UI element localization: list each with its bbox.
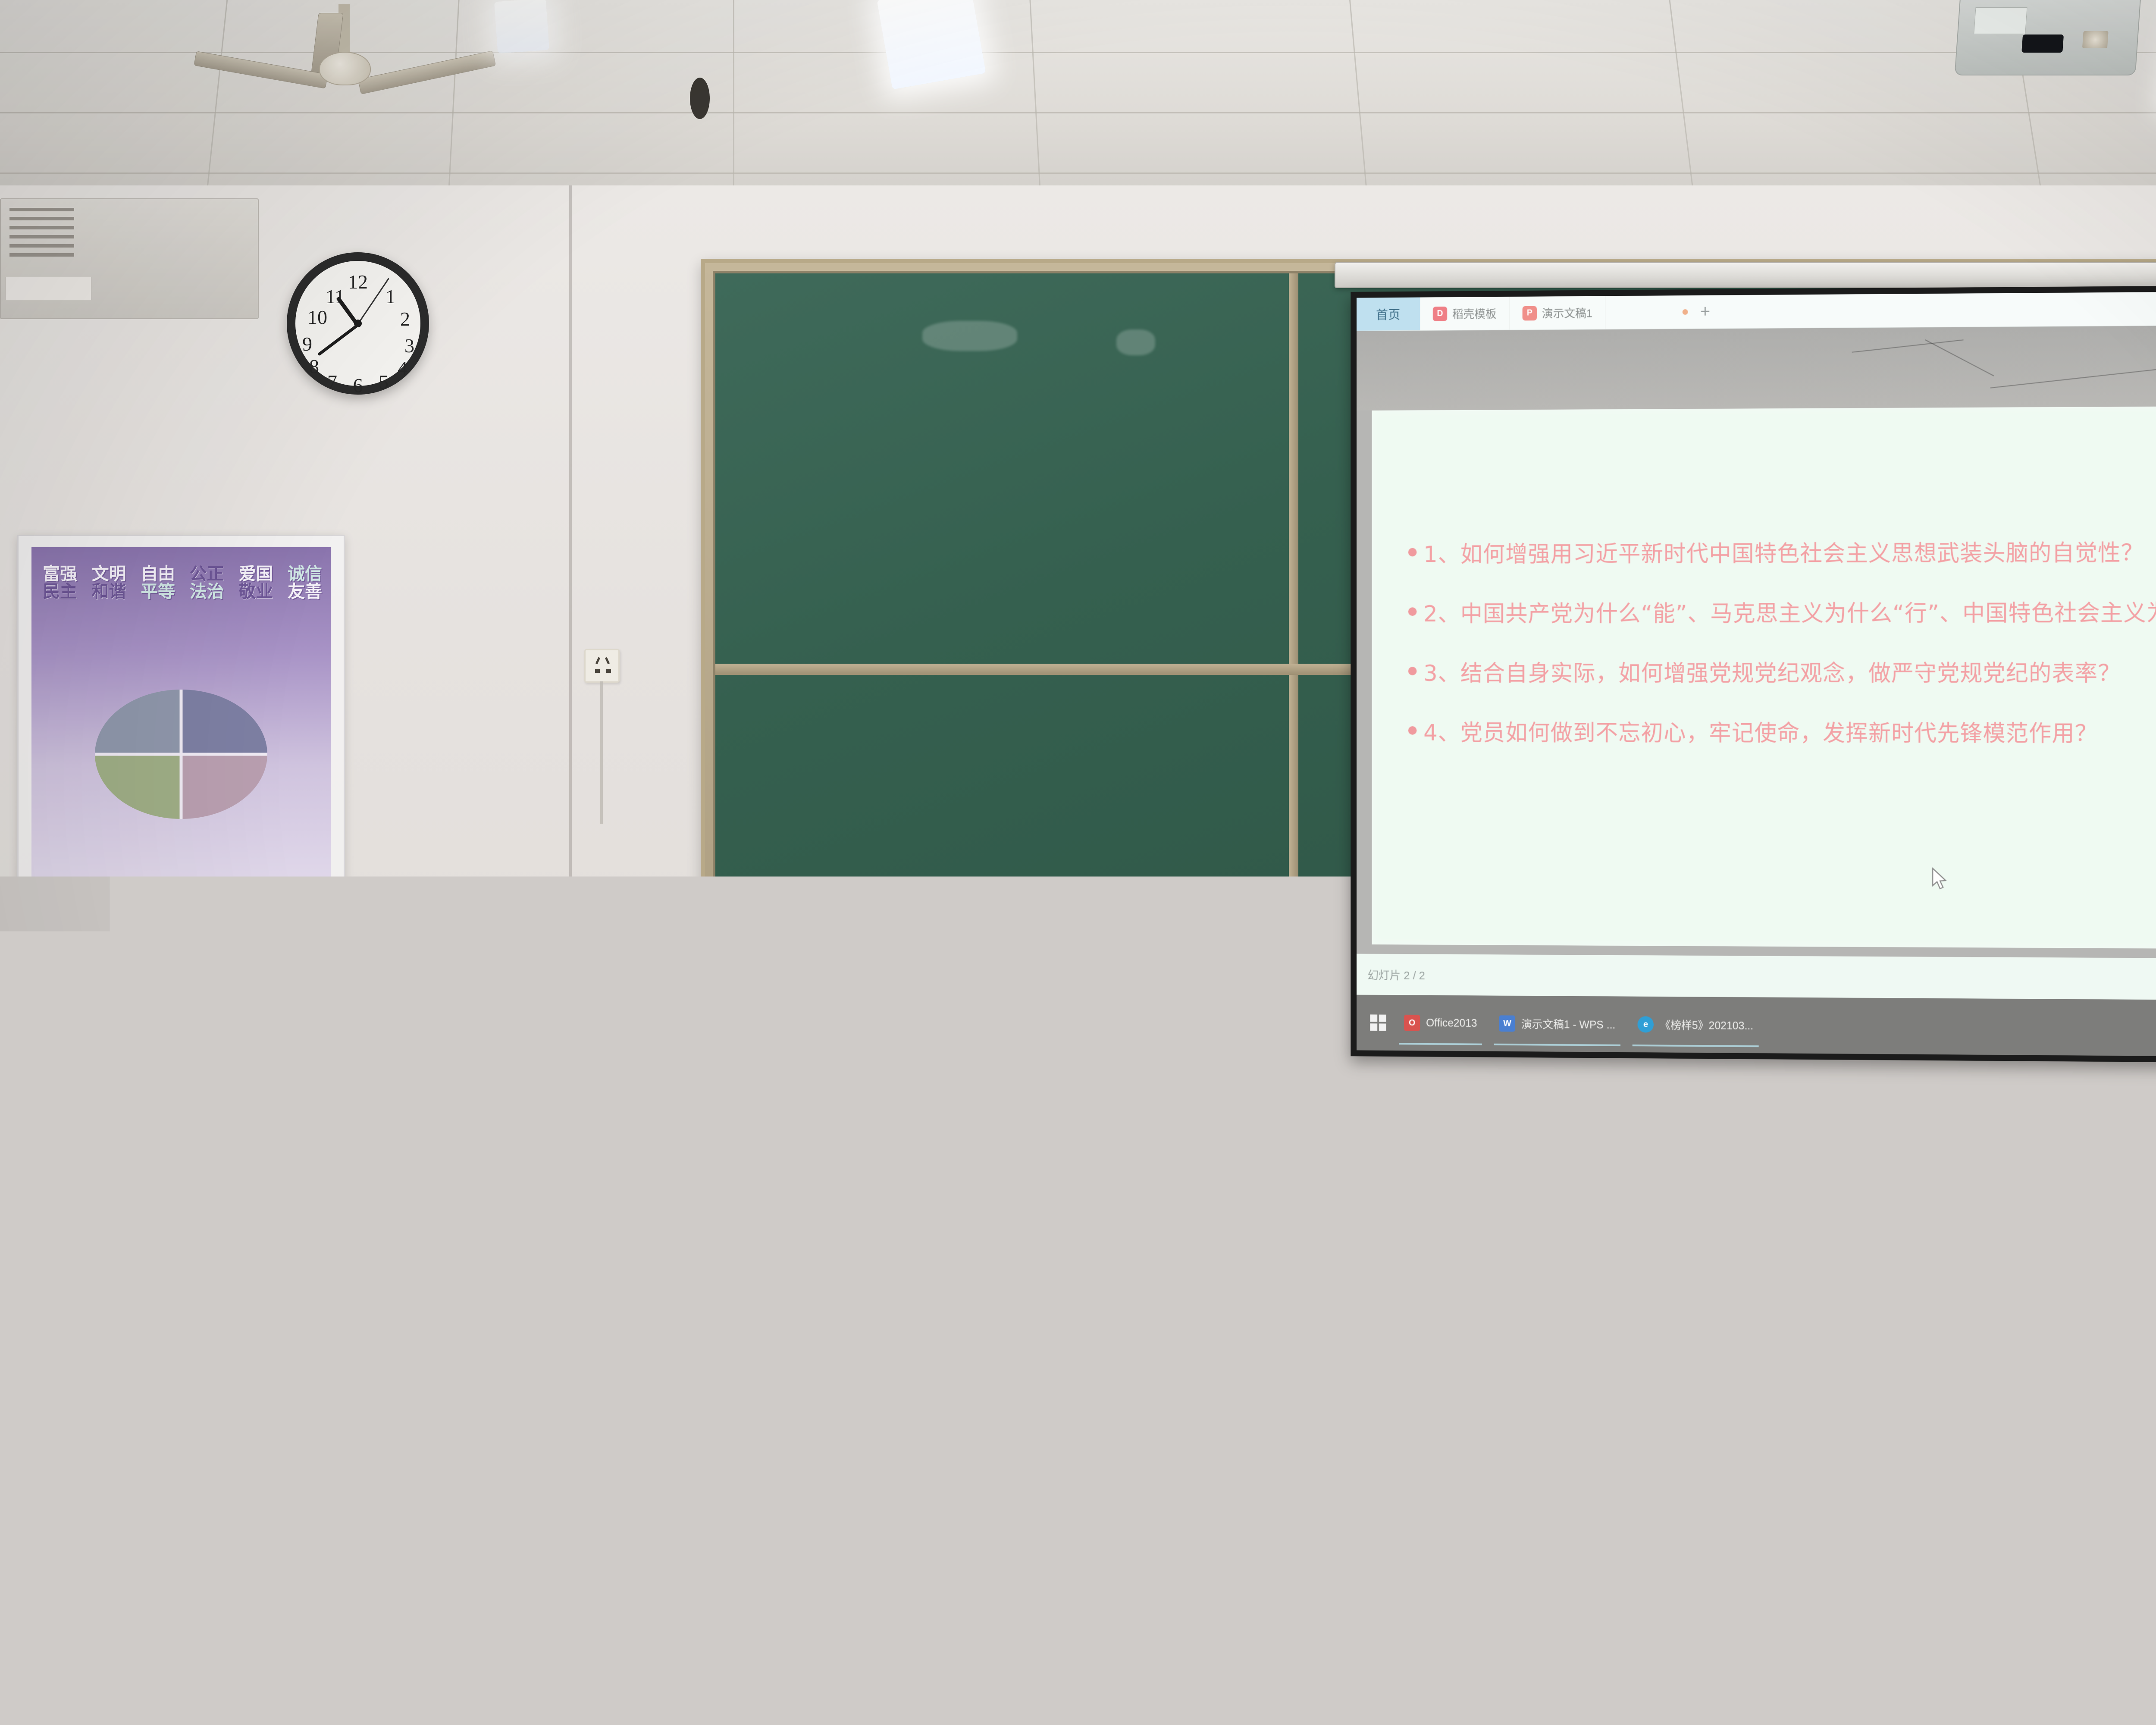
wall-cable bbox=[600, 681, 603, 824]
projection-screen: 首页 D 稻壳模板 P 演示文稿1 + 1 访客登录 bbox=[1351, 284, 2156, 1064]
projector-screen-housing bbox=[1335, 262, 2156, 288]
taskbar-item-label: Office2013 bbox=[1426, 1017, 1477, 1030]
edge-icon: e bbox=[1638, 1016, 1654, 1032]
clock-numeral: 1 bbox=[385, 285, 395, 308]
chair[interactable] bbox=[0, 1535, 259, 1678]
taskbar-item-office2013[interactable]: O Office2013 bbox=[1393, 995, 1488, 1051]
taskbar-item-edge-video[interactable]: e 《榜样5》202103... bbox=[1626, 997, 1764, 1054]
wps-toolbar-area bbox=[1357, 324, 2156, 411]
student bbox=[397, 1203, 578, 1436]
windows-taskbar: O Office2013 W 演示文稿1 - WPS ... e 《榜样5》20… bbox=[1357, 995, 2156, 1058]
value-word-bottom: 民主 bbox=[43, 583, 77, 600]
clock-numeral: 12 bbox=[348, 270, 368, 293]
student-head bbox=[1350, 1246, 1427, 1324]
desk-surface bbox=[2104, 1440, 2156, 1465]
chair[interactable] bbox=[811, 1410, 1052, 1540]
new-tab-button[interactable]: + bbox=[1688, 295, 1722, 328]
bullet-dot-icon bbox=[1408, 607, 1417, 616]
university-logo-icon bbox=[112, 881, 140, 903]
value-word-top: 爱国 bbox=[238, 565, 273, 582]
campus-photo-collage bbox=[95, 690, 267, 819]
wps-status-bar: 幻灯片 2 / 2 ‹ ☰ › bbox=[1357, 954, 2156, 1001]
tab-presentation1[interactable]: P 演示文稿1 bbox=[1510, 296, 1606, 329]
wps-icon: W bbox=[1499, 1015, 1515, 1032]
ceiling-fan bbox=[185, 4, 513, 103]
student-body bbox=[1337, 1315, 1440, 1419]
value-column: 自由 平等 bbox=[141, 565, 175, 600]
windows-start-button[interactable] bbox=[1363, 1014, 1393, 1031]
backpack[interactable] bbox=[1837, 1630, 1979, 1725]
value-word-bottom: 和谐 bbox=[92, 583, 126, 600]
clock-numeral: 4 bbox=[398, 357, 407, 379]
chair[interactable] bbox=[561, 1548, 819, 1690]
clock-numeral: 8 bbox=[309, 355, 319, 378]
ceiling bbox=[0, 0, 2156, 203]
value-column: 文明 和谐 bbox=[92, 565, 126, 600]
projected-desktop: 首页 D 稻壳模板 P 演示文稿1 + 1 访客登录 bbox=[1357, 290, 2156, 1057]
bullet-text: 1、如何增强用习近平新时代中国特色社会主义思想武装头脑的自觉性？ bbox=[1423, 536, 2144, 571]
ceiling-projector bbox=[1954, 0, 2142, 75]
taskbar-item-label: 《榜样5》202103... bbox=[1660, 1017, 1753, 1033]
desk-leg bbox=[1897, 1328, 1909, 1458]
value-column: 富强 民主 bbox=[43, 565, 77, 600]
wall-vent-box bbox=[0, 198, 259, 319]
shirt-graphic bbox=[439, 1072, 469, 1128]
bullet-text: 3、结合自身实际，如何增强党规党纪观念，做严守党规党纪的表率？ bbox=[1423, 657, 2121, 690]
projector-lens-icon bbox=[2021, 34, 2064, 53]
student bbox=[1337, 1246, 1440, 1419]
clock-numeral: 2 bbox=[400, 307, 410, 330]
clock-numeral: 6 bbox=[353, 374, 363, 397]
taskbar-item-wps-presentation[interactable]: W 演示文稿1 - WPS ... bbox=[1488, 996, 1626, 1052]
clock-numeral: 10 bbox=[307, 306, 327, 329]
student-head bbox=[636, 1199, 744, 1305]
university-name-cn: 南华大学 bbox=[146, 876, 251, 902]
tab-home[interactable]: 首页 bbox=[1357, 298, 1420, 331]
office-icon: O bbox=[1404, 1015, 1420, 1031]
ceiling-light bbox=[494, 0, 549, 53]
student-head bbox=[251, 1220, 353, 1320]
core-values-poster: 富强 民主 文明 和谐 自由 平等 公正 法治 爱国 敬业 bbox=[17, 535, 345, 936]
chair[interactable] bbox=[276, 1540, 535, 1682]
presentation-icon: P bbox=[1523, 306, 1537, 320]
chair[interactable] bbox=[862, 1557, 1121, 1699]
projector-screen-weight-bar bbox=[1343, 1062, 2156, 1088]
chair[interactable] bbox=[1078, 1414, 1319, 1544]
desk-surface bbox=[1880, 1307, 2139, 1327]
slide-bullet: 1、如何增强用习近平新时代中国特色社会主义思想武装头脑的自觉性？ bbox=[1408, 536, 2156, 571]
student-head bbox=[63, 1190, 175, 1298]
clock-numeral: 3 bbox=[404, 334, 414, 357]
university-name-en: UNIVERSITY OF SOUTH CHINA bbox=[146, 902, 251, 909]
value-column: 公正 法治 bbox=[190, 565, 224, 600]
presenter-hair bbox=[405, 901, 498, 1000]
value-word-top: 自由 bbox=[141, 565, 175, 582]
chair[interactable] bbox=[26, 1397, 267, 1527]
student-head bbox=[1965, 1212, 2075, 1320]
value-word-bottom: 法治 bbox=[190, 583, 224, 600]
presenter-hand bbox=[470, 1138, 501, 1171]
desk-surface bbox=[1811, 1432, 2113, 1456]
chair[interactable] bbox=[1156, 1561, 1414, 1703]
tab-label: 稻壳模板 bbox=[1452, 305, 1496, 321]
slide-bullet: 4、党员如何做到不忘初心，牢记使命，发挥新时代先锋模范作用？ bbox=[1408, 717, 2156, 751]
wps-tab-bar: 首页 D 稻壳模板 P 演示文稿1 + 1 访客登录 bbox=[1357, 290, 2156, 331]
bullet-text: 4、党员如何做到不忘初心，牢记使命，发挥新时代先锋模范作用？ bbox=[1423, 717, 2098, 751]
student-head bbox=[433, 1203, 541, 1307]
chair[interactable] bbox=[543, 1402, 785, 1531]
sleeve-stripe bbox=[360, 1084, 392, 1154]
clock-numeral: 9 bbox=[302, 332, 312, 355]
slide-bullet: 2、中国共产党为什么“能”、马克思主义为什么“行”、中国特色社会主义为什么“好”… bbox=[1408, 596, 2156, 630]
classroom-scene: 12 1 2 3 4 5 6 7 8 9 10 11 富强 民主 文明 和谐 bbox=[0, 0, 2156, 1725]
value-column: 诚信 友善 bbox=[288, 565, 322, 600]
slide-bullet: 3、结合自身实际，如何增强党规党纪观念，做严守党规党纪的表率？ bbox=[1408, 657, 2156, 691]
bullet-text: 2、中国共产党为什么“能”、马克思主义为什么“行”、中国特色社会主义为什么“好”… bbox=[1423, 597, 2156, 631]
value-word-top: 诚信 bbox=[288, 565, 322, 582]
clock-numeral: 5 bbox=[379, 370, 389, 393]
slide-counter: 幻灯片 2 / 2 bbox=[1368, 966, 1425, 982]
sleeve-stripe bbox=[522, 1080, 554, 1150]
student bbox=[26, 1190, 211, 1432]
value-word-top: 富强 bbox=[43, 565, 77, 582]
slide-canvas[interactable]: 1、如何增强用习近平新时代中国特色社会主义思想武装头脑的自觉性？ 2、中国共产党… bbox=[1372, 405, 2156, 950]
bullet-dot-icon bbox=[1408, 667, 1417, 675]
glasses-icon bbox=[418, 966, 487, 981]
ceiling-light bbox=[877, 0, 986, 90]
clock-center-pin bbox=[354, 320, 362, 327]
desk-leg bbox=[2096, 1462, 2110, 1725]
tab-label: 演示文稿1 bbox=[1542, 305, 1592, 321]
value-column: 爱国 敬业 bbox=[238, 565, 273, 600]
tab-docer-templates[interactable]: D 稻壳模板 bbox=[1420, 297, 1510, 330]
power-socket[interactable] bbox=[584, 649, 620, 683]
value-word-top: 文明 bbox=[92, 565, 126, 582]
value-word-bottom: 平等 bbox=[141, 583, 175, 600]
value-word-top: 公正 bbox=[190, 565, 224, 582]
windows-start-icon bbox=[1370, 1014, 1386, 1031]
smoke-detector-icon bbox=[690, 78, 710, 119]
core-values-grid: 富强 民主 文明 和谐 自由 平等 公正 法治 爱国 敬业 bbox=[43, 565, 322, 600]
docer-icon: D bbox=[1433, 306, 1447, 321]
wall-clock: 12 1 2 3 4 5 6 7 8 9 10 11 bbox=[287, 252, 429, 395]
unsaved-dot-icon bbox=[1683, 309, 1688, 315]
bullet-dot-icon bbox=[1408, 726, 1417, 735]
slide-area: 1、如何增强用习近平新时代中国特色社会主义思想武装头脑的自觉性？ 2、中国共产党… bbox=[1357, 405, 2156, 960]
clock-numeral: 7 bbox=[327, 370, 337, 393]
value-word-bottom: 友善 bbox=[288, 583, 322, 600]
bullet-dot-icon bbox=[1408, 548, 1417, 557]
chair[interactable] bbox=[285, 1402, 526, 1531]
taskbar-item-label: 演示文稿1 - WPS ... bbox=[1521, 1016, 1615, 1032]
value-word-bottom: 敬业 bbox=[238, 583, 273, 600]
chair[interactable] bbox=[2078, 1483, 2156, 1621]
